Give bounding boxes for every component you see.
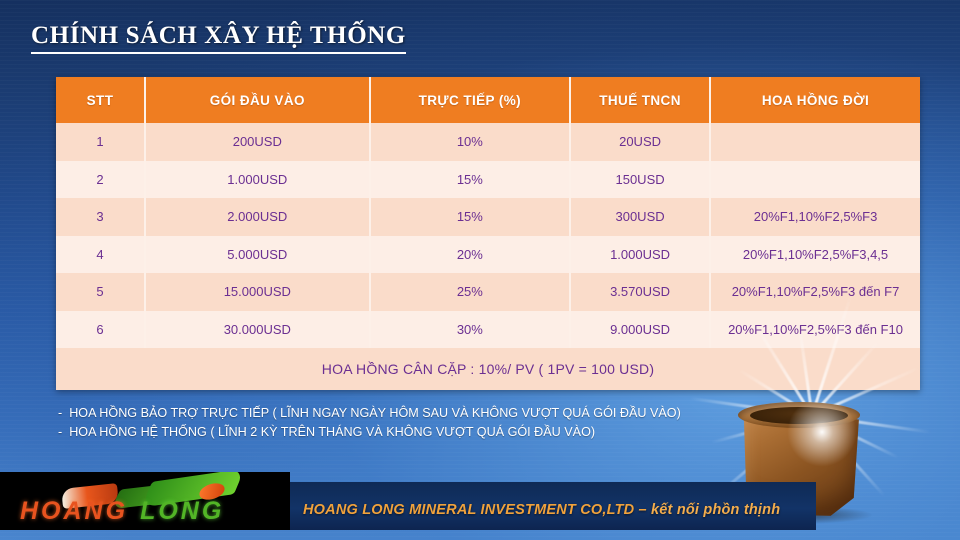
- cell-lifetime: 20%F1,10%F2,5%F3 đến F10: [710, 311, 920, 349]
- bullet-dash-icon: -: [58, 404, 62, 423]
- cell-tax: 9.000USD: [570, 311, 710, 349]
- cell-tax: 300USD: [570, 198, 710, 236]
- column-header-tax: THUẾ TNCN: [570, 77, 710, 123]
- table-row: 2 1.000USD 15% 150USD: [56, 161, 920, 199]
- cell-stt: 5: [56, 273, 145, 311]
- table-row: 1 200USD 10% 20USD: [56, 123, 920, 161]
- list-item: - HOA HỒNG BẢO TRỢ TRỰC TIẾP ( LĨNH NGAY…: [58, 404, 778, 423]
- cell-tax: 1.000USD: [570, 236, 710, 274]
- cell-tax: 20USD: [570, 123, 710, 161]
- cell-package: 15.000USD: [145, 273, 370, 311]
- bullet-dash-icon: -: [58, 423, 62, 442]
- table-row: 5 15.000USD 25% 3.570USD 20%F1,10%F2,5%F…: [56, 273, 920, 311]
- cell-package: 5.000USD: [145, 236, 370, 274]
- cell-lifetime: 20%F1,10%F2,5%F3 đến F7: [710, 273, 920, 311]
- light-glow: [786, 396, 858, 468]
- cell-lifetime: 20%F1,10%F2,5%F3,4,5: [710, 236, 920, 274]
- cell-tax: 3.570USD: [570, 273, 710, 311]
- cell-direct: 25%: [370, 273, 570, 311]
- cell-package: 30.000USD: [145, 311, 370, 349]
- cell-stt: 6: [56, 311, 145, 349]
- footer-company-line: HOANG LONG MINERAL INVESTMENT CO,LTD – k…: [303, 502, 780, 518]
- cell-stt: 1: [56, 123, 145, 161]
- footer-company-name: HOANG LONG MINERAL INVESTMENT CO,LTD –: [303, 502, 647, 518]
- cell-stt: 2: [56, 161, 145, 199]
- cell-lifetime: [710, 161, 920, 199]
- cell-lifetime: 20%F1,10%F2,5%F3: [710, 198, 920, 236]
- cell-direct: 15%: [370, 161, 570, 199]
- table-body: 1 200USD 10% 20USD 2 1.000USD 15% 150USD…: [56, 123, 920, 348]
- notes-list: - HOA HỒNG BẢO TRỢ TRỰC TIẾP ( LĨNH NGAY…: [58, 404, 778, 442]
- column-header-lifetime: HOA HỒNG ĐỜI: [710, 77, 920, 123]
- cell-direct: 10%: [370, 123, 570, 161]
- cell-direct: 20%: [370, 236, 570, 274]
- table-header: STT GÓI ĐẦU VÀO TRỰC TIẾP (%) THUẾ TNCN …: [56, 77, 920, 123]
- footer-tagline: kết nối phồn thịnh: [651, 502, 780, 518]
- logo-word-long: LONG: [140, 497, 224, 525]
- table-row: 3 2.000USD 15% 300USD 20%F1,10%F2,5%F3: [56, 198, 920, 236]
- column-header-package: GÓI ĐẦU VÀO: [145, 77, 370, 123]
- policy-table: STT GÓI ĐẦU VÀO TRỰC TIẾP (%) THUẾ TNCN …: [56, 77, 920, 390]
- column-header-stt: STT: [56, 77, 145, 123]
- policy-table-container: STT GÓI ĐẦU VÀO TRỰC TIẾP (%) THUẾ TNCN …: [56, 77, 920, 390]
- note-text: HOA HỒNG BẢO TRỢ TRỰC TIẾP ( LĨNH NGAY N…: [69, 404, 681, 423]
- column-header-direct: TRỰC TIẾP (%): [370, 77, 570, 123]
- cell-direct: 15%: [370, 198, 570, 236]
- cell-lifetime: [710, 123, 920, 161]
- cell-tax: 150USD: [570, 161, 710, 199]
- table-row: 4 5.000USD 20% 1.000USD 20%F1,10%F2,5%F3…: [56, 236, 920, 274]
- note-text: HOA HỒNG HỆ THỐNG ( LĨNH 2 KỲ TRÊN THÁNG…: [69, 423, 595, 442]
- logo-word-hoang: HOANG: [20, 497, 128, 525]
- cell-stt: 4: [56, 236, 145, 274]
- cell-stt: 3: [56, 198, 145, 236]
- page-title: CHÍNH SÁCH XÂY HỆ THỐNG: [31, 22, 406, 54]
- cell-package: 2.000USD: [145, 198, 370, 236]
- table-header-row: STT GÓI ĐẦU VÀO TRỰC TIẾP (%) THUẾ TNCN …: [56, 77, 920, 123]
- list-item: - HOA HỒNG HỆ THỐNG ( LĨNH 2 KỲ TRÊN THÁ…: [58, 423, 778, 442]
- cell-direct: 30%: [370, 311, 570, 349]
- cell-package: 200USD: [145, 123, 370, 161]
- logo-wordmark: HOANGLONG: [20, 497, 224, 526]
- table-row: 6 30.000USD 30% 9.000USD 20%F1,10%F2,5%F…: [56, 311, 920, 349]
- company-logo: HOANGLONG: [0, 472, 290, 530]
- cell-package: 1.000USD: [145, 161, 370, 199]
